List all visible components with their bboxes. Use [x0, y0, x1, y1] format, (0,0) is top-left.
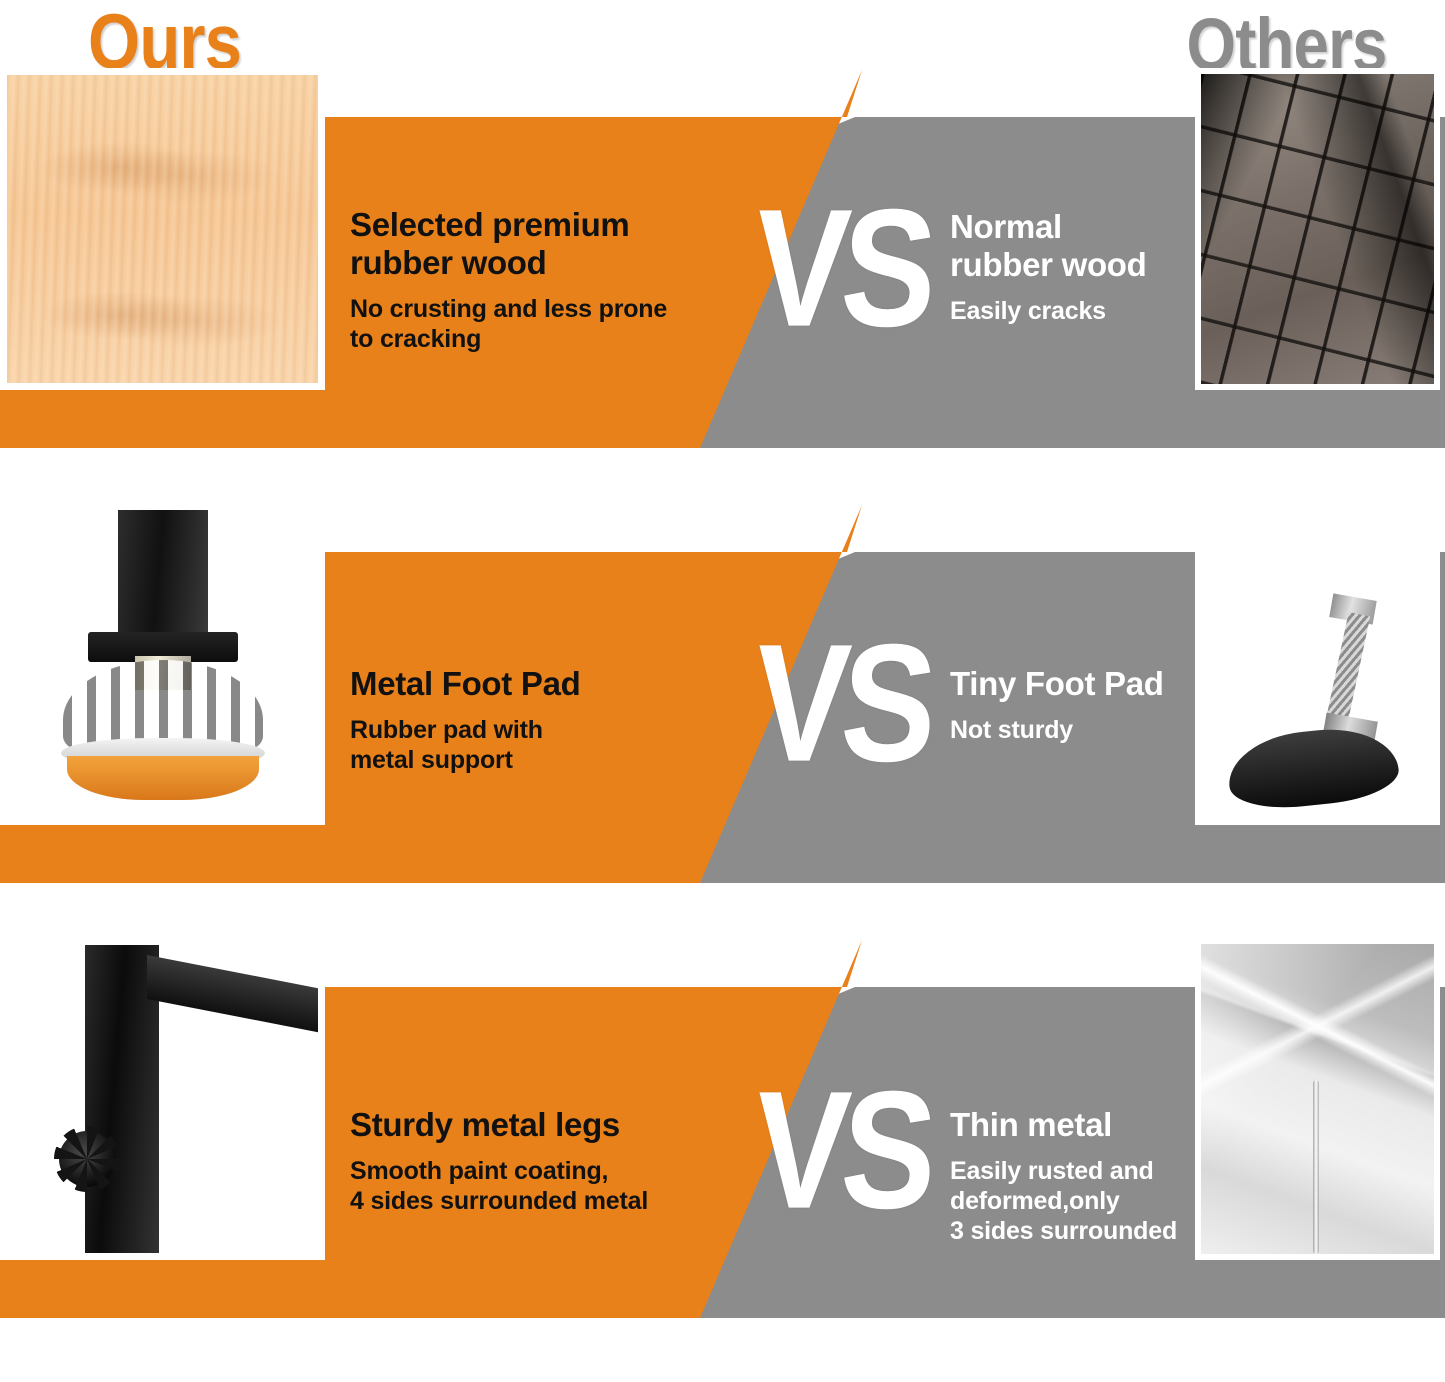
- ours-photo-1: [0, 68, 325, 390]
- others-subtitle-3: Easily rusted and deformed,only 3 sides …: [950, 1156, 1177, 1246]
- others-text-1: Normal rubber wood Easily cracks: [950, 208, 1147, 326]
- others-subtitle-1: Easily cracks: [950, 296, 1147, 326]
- star-knob: [59, 1131, 115, 1187]
- ours-subtitle-1: No crusting and less prone to cracking: [350, 294, 667, 354]
- metal-foot-pad-photo: [7, 510, 318, 818]
- ours-text-1: Selected premium rubber wood No crusting…: [350, 206, 667, 354]
- ours-subtitle-3: Smooth paint coating, 4 sides surrounded…: [350, 1156, 648, 1216]
- cracked-wood-photo: [1201, 74, 1434, 384]
- ours-photo-3: [0, 938, 325, 1260]
- orange-rubber-base: [67, 756, 259, 800]
- ours-title-2: Metal Foot Pad: [350, 665, 580, 703]
- vs-badge-1: VS: [750, 185, 933, 353]
- ours-title-3: Sturdy metal legs: [350, 1106, 648, 1144]
- comparison-row-1: Selected premium rubber wood No crusting…: [0, 58, 1445, 448]
- others-title-2: Tiny Foot Pad: [950, 665, 1164, 703]
- horizontal-rail: [147, 955, 325, 1038]
- others-photo-3: [1195, 938, 1440, 1260]
- comparison-row-3: Sturdy metal legs Smooth paint coating, …: [0, 928, 1445, 1318]
- ours-title-1: Selected premium rubber wood: [350, 206, 667, 282]
- others-title-1: Normal rubber wood: [950, 208, 1147, 284]
- premium-rubber-wood-photo: [7, 75, 318, 383]
- others-subtitle-2: Not sturdy: [950, 715, 1164, 745]
- others-photo-1: [1195, 68, 1440, 390]
- tiny-foot-pad-photo: [1201, 509, 1434, 819]
- others-title-3: Thin metal: [950, 1106, 1177, 1144]
- vs-badge-2: VS: [750, 620, 933, 788]
- ours-subtitle-2: Rubber pad with metal support: [350, 715, 580, 775]
- ours-text-3: Sturdy metal legs Smooth paint coating, …: [350, 1106, 648, 1216]
- others-photo-2: [1195, 503, 1440, 825]
- sturdy-metal-leg-photo: [7, 945, 318, 1253]
- leg-tube: [118, 510, 208, 642]
- ours-text-2: Metal Foot Pad Rubber pad with metal sup…: [350, 665, 580, 775]
- vs-badge-3: VS: [750, 1067, 933, 1235]
- others-text-3: Thin metal Easily rusted and deformed,on…: [950, 1106, 1177, 1246]
- steel-corner-line: [1313, 1080, 1319, 1254]
- others-text-2: Tiny Foot Pad Not sturdy: [950, 665, 1164, 745]
- thin-metal-corner-photo: [1201, 944, 1434, 1254]
- ours-photo-2: [0, 503, 325, 825]
- comparison-row-2: Metal Foot Pad Rubber pad with metal sup…: [0, 493, 1445, 883]
